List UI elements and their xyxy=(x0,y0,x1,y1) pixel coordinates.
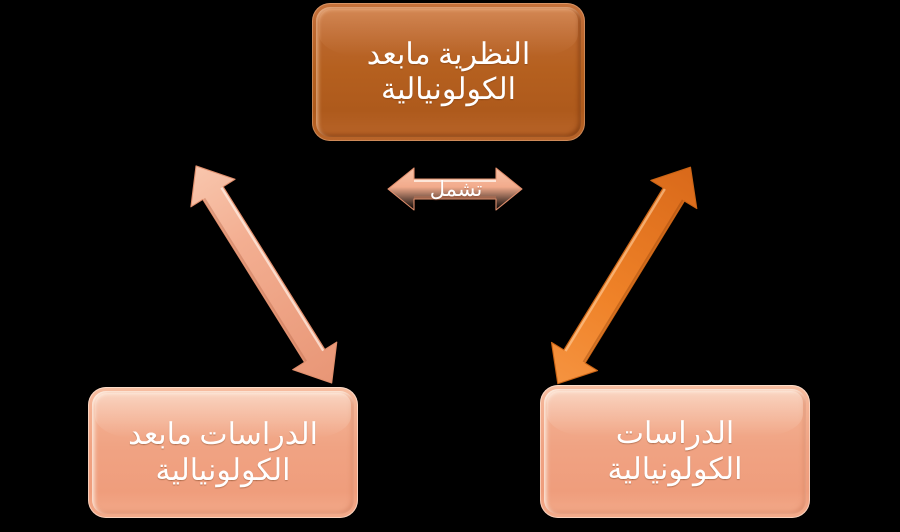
node-postcolonial-studies-label: الدراسات مابعد الكولونيالية xyxy=(114,417,332,488)
node-colonial-studies-label: الدراسات الكولونيالية xyxy=(594,416,757,487)
arrow-includes-label: تشمل xyxy=(406,170,506,208)
arrow-theory-post-studies xyxy=(174,152,354,397)
node-postcolonial-studies[interactable]: الدراسات مابعد الكولونيالية xyxy=(88,387,358,518)
node-colonial-studies[interactable]: الدراسات الكولونيالية xyxy=(540,385,810,518)
arrow-theory-colonial-studies xyxy=(535,153,714,398)
node-postcolonial-theory[interactable]: النظرية مابعد الكولونيالية xyxy=(312,3,585,141)
node-postcolonial-theory-label: النظرية مابعد الكولونيالية xyxy=(353,37,544,108)
diagram-canvas: تشمل النظرية مابعد الكولونيالية الدراسات… xyxy=(0,0,900,532)
